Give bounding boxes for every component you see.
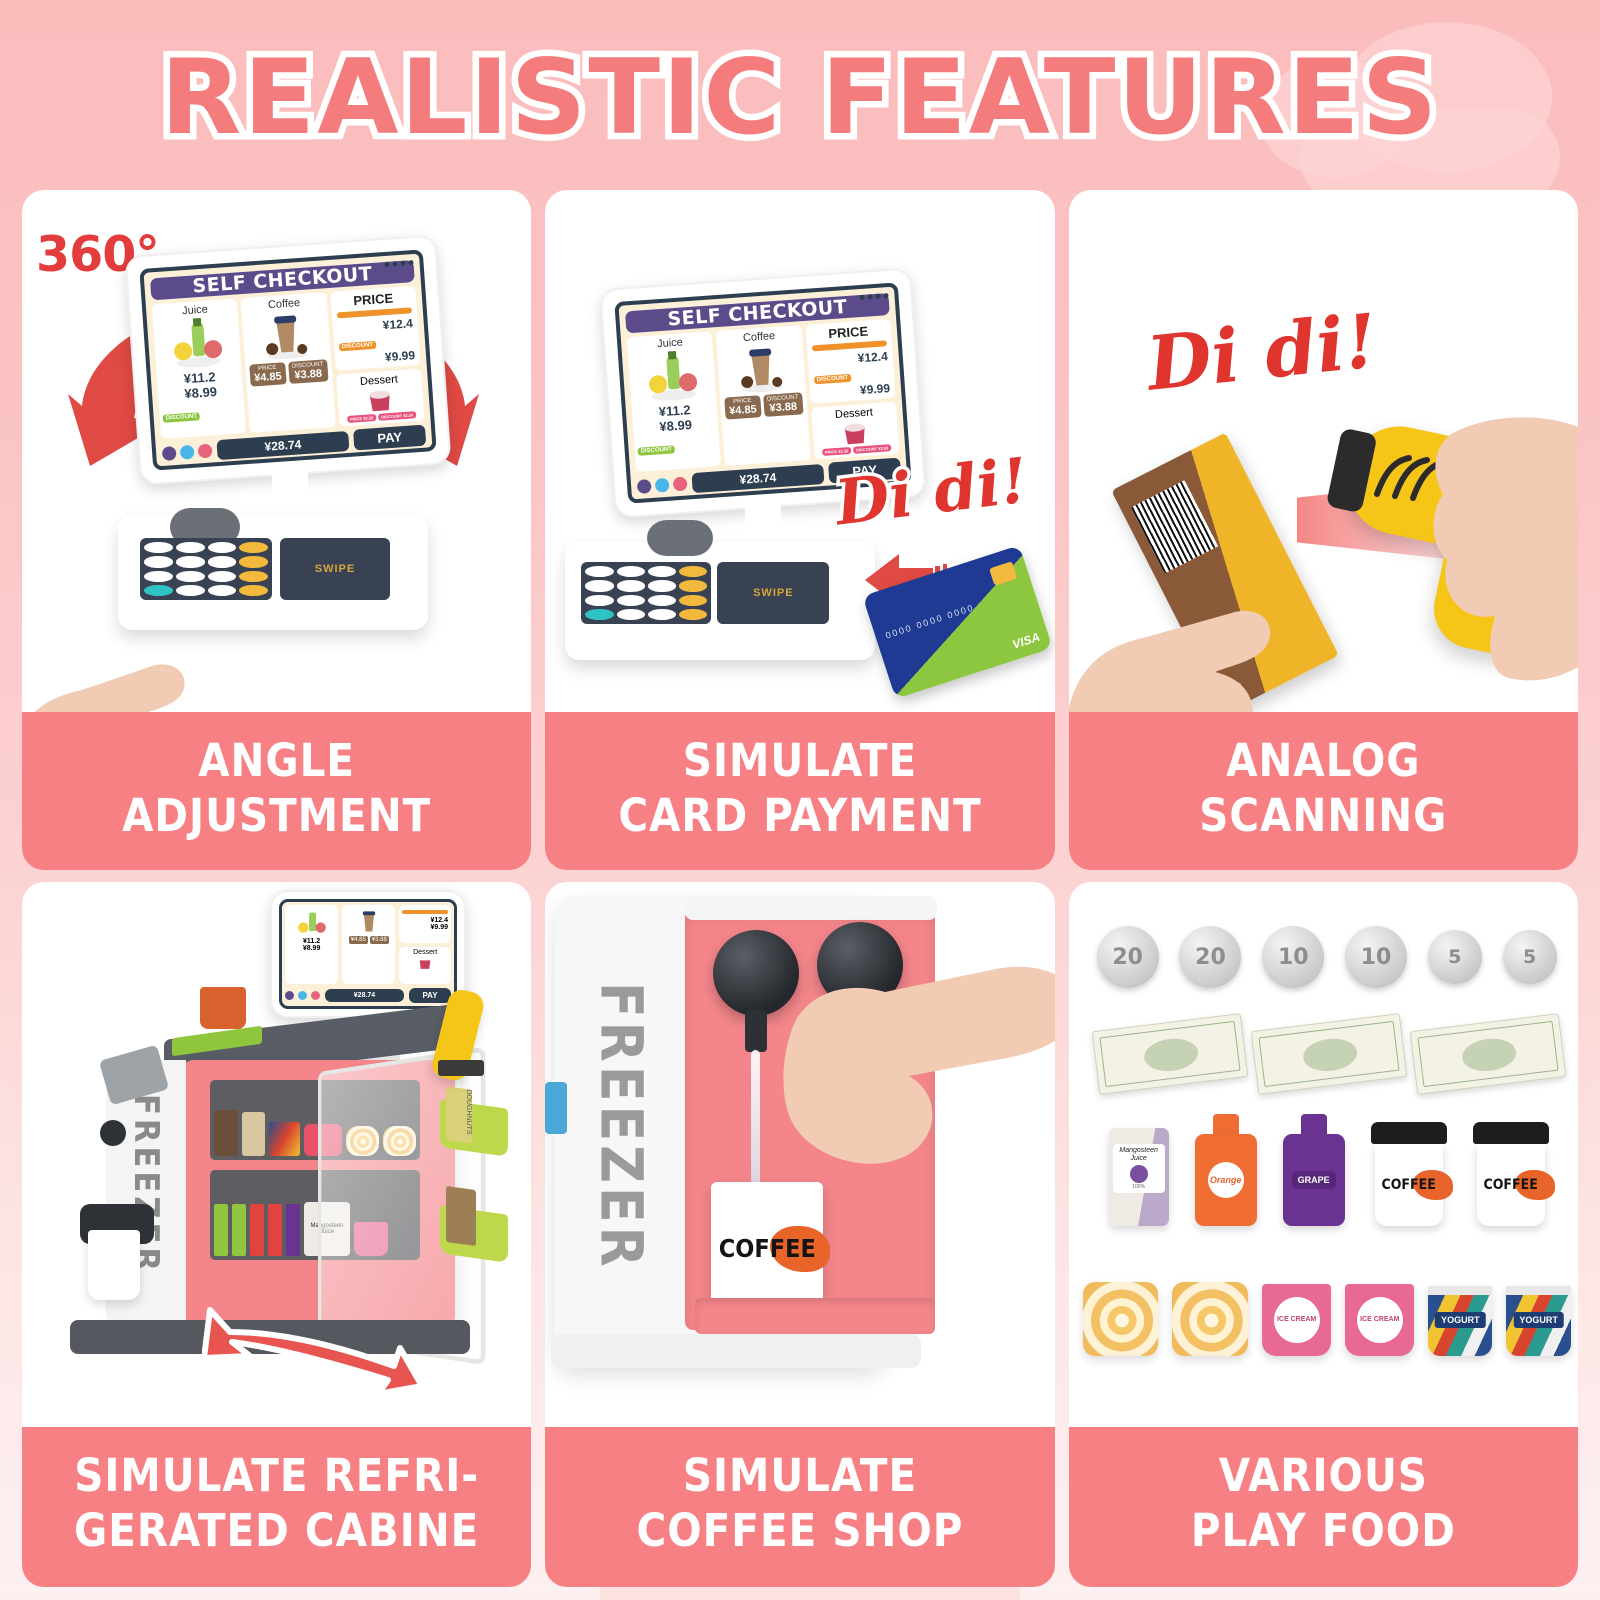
panel-stage-play-food: 20 20 10 10 5 5 Mangosteen Juice xyxy=(1069,882,1578,1427)
key-multiply[interactable] xyxy=(239,571,268,582)
mini-price-bar xyxy=(402,910,448,914)
key-5[interactable] xyxy=(617,580,645,591)
caption-line-2: COFFEE SHOP xyxy=(553,1504,1046,1559)
play-money-bill[interactable] xyxy=(1250,1013,1407,1095)
card-brand-label: VISA xyxy=(1011,630,1042,652)
panel-stage-card-payment: SELF CHECKOUT Juice ¥1 xyxy=(545,190,1054,712)
panel-various-play-food: 20 20 10 10 5 5 Mangosteen Juice xyxy=(1069,882,1578,1587)
cart-icon[interactable] xyxy=(180,444,195,459)
caption-line-2: CARD PAYMENT xyxy=(553,789,1046,844)
dessert-box[interactable]: Dessert PRICE ¥3.32 DISCOUNT ¥2.50 xyxy=(336,369,425,427)
door-swing-arrow-icon xyxy=(202,1270,442,1400)
shelf-bottle-4 xyxy=(268,1204,282,1256)
coffee-machine-label: FREEZER xyxy=(587,982,655,1271)
basket-label-doughnuts: DOUGHNUTS xyxy=(446,1086,472,1144)
pay-button[interactable]: PAY xyxy=(353,425,426,451)
desserts-row: ICE CREAM ICE CREAM YOGURT YOGURT xyxy=(1083,1282,1571,1356)
mini-discount-juice: ¥8.99 xyxy=(303,945,321,952)
panel-stage-angle: 360° SELF CHECKOUT Juice xyxy=(22,190,531,712)
bottle-label-orange: Orange xyxy=(1208,1162,1244,1198)
discount-tag-juice: DISCOUNT xyxy=(163,412,201,423)
key-4[interactable] xyxy=(585,580,613,591)
cup-label: COFFEE xyxy=(1483,1177,1537,1193)
key-6[interactable] xyxy=(208,556,237,567)
key-8[interactable] xyxy=(617,595,645,606)
ice-cream-label: ICE CREAM xyxy=(1357,1297,1403,1343)
caption-various-play-food: VARIOUS PLAY FOOD xyxy=(1069,1427,1578,1587)
mini-dessert-box: Dessert xyxy=(399,947,451,985)
cup-lid-icon xyxy=(1473,1122,1549,1144)
juice-product-icon-mini xyxy=(296,908,328,938)
price-value-coffee-2: ¥4.85 xyxy=(729,403,757,417)
caption-angle-adjustment: ANGLE ADJUSTMENT xyxy=(22,712,531,870)
dispenser-spout xyxy=(745,1010,767,1052)
panel-angle-adjustment: 360° SELF CHECKOUT Juice xyxy=(22,190,531,870)
coffee-product-icon-mini xyxy=(355,908,383,936)
discount-amount: ¥9.99 xyxy=(339,348,415,367)
price-amount-2: ¥12.4 xyxy=(812,349,888,368)
play-money-bill[interactable] xyxy=(1409,1013,1566,1095)
drinks-row: Mangosteen Juice 100% Orange GRAPE xyxy=(1089,1114,1569,1226)
cup-lid-icon xyxy=(1371,1122,1447,1144)
panel-analog-scanning: Di di! snacks xyxy=(1069,190,1578,870)
key-5[interactable] xyxy=(176,556,205,567)
caption-coffee-shop: SIMULATE COFFEE SHOP xyxy=(545,1427,1054,1587)
person-icon[interactable] xyxy=(162,446,177,461)
footer-icon-group xyxy=(162,443,213,460)
cup-label: COFFEE xyxy=(711,1234,823,1263)
cup-label: COFFEE xyxy=(1381,1177,1435,1193)
price-value-coffee: ¥4.85 xyxy=(254,370,282,384)
hand-holding-scanner xyxy=(1399,408,1578,708)
dessert-box-2[interactable]: Dessert PRICE ¥3.32 DISCOUNT ¥2.50 xyxy=(811,402,900,460)
item-discount-price-juice-2: ¥8.99 xyxy=(659,417,693,434)
price-amount: ¥12.4 xyxy=(337,316,413,335)
hand-holding-product xyxy=(1069,542,1319,712)
scanner-holster-strap xyxy=(438,1060,484,1076)
person-icon-2[interactable] xyxy=(637,479,652,494)
key-4[interactable] xyxy=(144,556,173,567)
card-chip-icon xyxy=(989,561,1017,586)
register-screen-shell: SELF CHECKOUT Juice ¥1 xyxy=(124,234,451,485)
discount-tag-price-2: DISCOUNT xyxy=(814,374,852,385)
can-sub-label: 100% xyxy=(1115,1184,1163,1190)
grape-juice-bottle[interactable]: GRAPE xyxy=(1283,1114,1345,1226)
coin-10[interactable]: 10 xyxy=(1262,926,1324,988)
key-ac-2[interactable] xyxy=(585,609,613,620)
mini-dessert-label: Dessert xyxy=(402,949,448,956)
mini-discount-coffee: ¥3.88 xyxy=(370,936,389,944)
screen-body-2: Juice ¥11.2 DISCOUNT ¥8.99 xyxy=(627,319,900,472)
pointing-hand-left xyxy=(22,580,242,712)
item-discount-price-juice: ¥8.99 xyxy=(184,384,218,401)
key-minus[interactable] xyxy=(679,580,707,591)
mini-summary: ¥12.4 ¥9.99 Dessert xyxy=(399,905,451,984)
coin-row: 20 20 10 10 5 5 xyxy=(1097,926,1557,988)
mini-icon-group xyxy=(285,991,320,1000)
mini-discount-amount: ¥9.99 xyxy=(402,924,448,931)
dessert-price-tag: PRICE ¥3.32 xyxy=(347,414,377,423)
key-3[interactable] xyxy=(208,542,237,553)
price-summary-column-2: PRICE ¥12.4 DISCOUNT ¥9.99 Dessert xyxy=(805,319,900,460)
swiss-roll-1[interactable] xyxy=(1083,1282,1159,1356)
person-icon-mini xyxy=(285,991,294,1000)
juice-product-icon xyxy=(168,314,225,370)
key-3[interactable] xyxy=(648,566,676,577)
coin-5[interactable]: 5 xyxy=(1503,930,1557,984)
machine-base xyxy=(551,1334,921,1368)
screen-body: Juice ¥11.2 DISCOUNT ¥8.99 xyxy=(152,286,425,439)
yogurt-lid-icon xyxy=(1506,1286,1570,1295)
caption-line-2: ADJUSTMENT xyxy=(30,789,523,844)
caption-analog-scanning: ANALOG SCANNING xyxy=(1069,712,1578,870)
mini-price-juice: ¥11.2 xyxy=(303,938,320,945)
key-2[interactable] xyxy=(176,542,205,553)
mini-footer: ¥28.74 PAY xyxy=(285,988,451,1003)
item-card-juice[interactable]: Juice ¥11.2 DISCOUNT ¥8.99 xyxy=(152,298,247,439)
price-heading-2: PRICE xyxy=(811,322,887,342)
key-equals[interactable] xyxy=(679,609,707,620)
key-7[interactable] xyxy=(585,595,613,606)
self-checkout-screen-mini[interactable]: ¥11.2 ¥8.99 ¥4.85 ¥3.88 xyxy=(279,899,457,1009)
yogurt-cup-1[interactable]: YOGURT xyxy=(1428,1286,1492,1356)
can-label: Mangosteen Juice xyxy=(1115,1147,1163,1162)
mini-body: ¥11.2 ¥8.99 ¥4.85 ¥3.88 xyxy=(285,905,451,984)
discount-amount-2: ¥9.99 xyxy=(815,381,891,400)
yogurt-cup-2[interactable]: YOGURT xyxy=(1506,1286,1570,1356)
register-screen-mini: ¥11.2 ¥8.99 ¥4.85 ¥3.88 xyxy=(270,890,466,1018)
mini-item-juice: ¥11.2 ¥8.99 xyxy=(285,905,338,984)
caption-simulate-card-payment: SIMULATE CARD PAYMENT xyxy=(545,712,1054,870)
caption-refrigerated-cabine: SIMULATE REFRI- GERATED CABINE xyxy=(22,1427,531,1587)
cart-icon-2[interactable] xyxy=(655,477,670,492)
caption-line-1: ANGLE xyxy=(30,734,523,789)
sound-effect-di-di-scan: Di di! xyxy=(1143,298,1381,408)
side-accessory-blue xyxy=(545,1082,567,1134)
item-card-juice-2[interactable]: Juice ¥11.2 DISCOUNT ¥8.99 xyxy=(627,331,722,472)
key-6[interactable] xyxy=(648,580,676,591)
caption-line-2: SCANNING xyxy=(1077,789,1570,844)
key-dot[interactable] xyxy=(648,609,676,620)
shelf-bottle-2 xyxy=(232,1204,246,1256)
mangosteen-juice-can[interactable]: Mangosteen Juice 100% xyxy=(1109,1128,1169,1226)
page-title: REALISTIC FEATURES xyxy=(161,38,1440,158)
key-plus[interactable] xyxy=(679,566,707,577)
side-knob xyxy=(100,1120,126,1146)
price-box[interactable]: PRICE ¥12.4 DISCOUNT ¥9.99 xyxy=(330,286,421,371)
price-box-2[interactable]: PRICE ¥12.4 DISCOUNT ¥9.99 xyxy=(805,319,896,404)
dessert-product-icon-mini xyxy=(417,956,433,970)
mangosteen-icon xyxy=(1130,1165,1148,1183)
shelf-bottle-1 xyxy=(214,1204,228,1256)
coffee-cup-side xyxy=(88,1230,140,1300)
caption-line-1: SIMULATE xyxy=(553,734,1046,789)
caption-line-1: SIMULATE REFRI- xyxy=(30,1449,523,1504)
bottle-label-grape: GRAPE xyxy=(1292,1171,1336,1189)
panel-stage-coffee: FREEZER COFFEE xyxy=(545,882,1054,1427)
panel-stage-scanning: Di di! snacks xyxy=(1069,190,1578,712)
panel-simulate-card-payment: SELF CHECKOUT Juice ¥1 xyxy=(545,190,1054,870)
discount-value-coffee: ¥3.88 xyxy=(292,368,324,382)
dispenser-top-rim xyxy=(685,896,937,920)
swipe-nfc-pad[interactable]: SWIPE xyxy=(280,538,390,600)
key-equals[interactable] xyxy=(239,585,268,596)
panel-simulate-refrigerated-cabine: ¥11.2 ¥8.99 ¥4.85 ¥3.88 xyxy=(22,882,531,1587)
caption-line-1: VARIOUS xyxy=(1077,1449,1570,1504)
play-money-bill[interactable] xyxy=(1091,1013,1248,1095)
item-card-coffee[interactable]: Coffee PRICE ¥4.8 xyxy=(241,292,336,433)
hand-pressing-knob xyxy=(781,944,1054,1184)
shelf-bottle-5 xyxy=(286,1204,300,1256)
coffee-product-icon-2 xyxy=(735,341,788,394)
shelf-bottle-3 xyxy=(250,1204,264,1256)
drip-tray xyxy=(695,1298,935,1334)
coin-20[interactable]: 20 xyxy=(1097,926,1159,988)
coffee-cup-food-2[interactable]: COFFEE xyxy=(1473,1122,1549,1226)
key-minus[interactable] xyxy=(239,556,268,567)
yogurt-lid-icon xyxy=(1428,1286,1492,1295)
handheld-scanner-dock-2 xyxy=(647,520,713,556)
ice-cream-tub-2[interactable]: ICE CREAM xyxy=(1345,1284,1414,1356)
coffee-cup-food-1[interactable]: COFFEE xyxy=(1371,1122,1447,1226)
caption-line-1: ANALOG xyxy=(1077,734,1570,789)
orange-juice-bottle[interactable]: Orange xyxy=(1195,1114,1257,1226)
price-summary-column: PRICE ¥12.4 DISCOUNT ¥9.99 Dessert xyxy=(330,286,425,427)
key-plus[interactable] xyxy=(239,542,268,553)
money-icon[interactable] xyxy=(198,443,213,458)
panel-stage-freezer: ¥11.2 ¥8.99 ¥4.85 ¥3.88 xyxy=(22,882,531,1427)
dessert-discount-tag-2: DISCOUNT ¥2.50 xyxy=(853,444,891,454)
key-1[interactable] xyxy=(585,566,613,577)
water-stream xyxy=(751,1050,760,1200)
shelf-item-jar-2 xyxy=(242,1112,266,1156)
bottle-cap-grape xyxy=(1301,1114,1327,1134)
discount-tag-juice-2: DISCOUNT xyxy=(638,445,676,456)
item-card-coffee-2[interactable]: Coffee PRICE ¥4.8 xyxy=(716,325,811,466)
discount-value-coffee-2: ¥3.88 xyxy=(768,401,800,415)
key-9[interactable] xyxy=(648,595,676,606)
caption-line-2: GERATED CABINE xyxy=(30,1504,523,1559)
dessert-product-icon xyxy=(364,386,396,414)
page-title-container: REALISTIC FEATURES xyxy=(0,38,1600,158)
caption-line-1: SIMULATE xyxy=(553,1449,1046,1504)
key-1[interactable] xyxy=(144,542,173,553)
panel-simulate-coffee-shop: FREEZER COFFEE SIMULATE COF xyxy=(545,882,1054,1587)
feature-panel-grid: 360° SELF CHECKOUT Juice xyxy=(22,190,1578,1587)
footer-icon-group-2 xyxy=(637,476,688,493)
juice-product-icon-2 xyxy=(644,347,701,403)
mini-price-box: ¥12.4 ¥9.99 xyxy=(399,905,451,943)
caption-line-2: PLAY FOOD xyxy=(1077,1504,1570,1559)
shelf-item-yogurt xyxy=(269,1122,300,1156)
coin-5[interactable]: 5 xyxy=(1428,930,1482,984)
price-heading: PRICE xyxy=(335,289,411,309)
money-icon-mini xyxy=(311,991,320,1000)
key-0[interactable] xyxy=(617,609,645,620)
card-number: 0000 0000 0000 xyxy=(885,602,977,640)
cart-icon-mini xyxy=(298,991,307,1000)
numeric-keypad-2[interactable] xyxy=(581,562,711,624)
coffee-cup-under-spout[interactable]: COFFEE xyxy=(711,1182,823,1314)
mini-pay-button: PAY xyxy=(409,988,451,1003)
yogurt-label: YOGURT xyxy=(1435,1312,1486,1328)
money-icon-2[interactable] xyxy=(673,476,688,491)
coffee-cup-on-counter xyxy=(200,987,246,1029)
mini-total: ¥28.74 xyxy=(325,989,404,1002)
total-amount-2: ¥28.74 xyxy=(692,463,825,492)
mini-item-coffee: ¥4.85 ¥3.88 xyxy=(342,905,395,984)
dessert-price-tag-2: PRICE ¥3.32 xyxy=(822,447,852,456)
shelf-item-jar xyxy=(214,1110,238,1156)
self-checkout-screen[interactable]: SELF CHECKOUT Juice ¥1 xyxy=(139,249,436,470)
total-amount: ¥28.74 xyxy=(216,430,349,459)
mini-price-coffee: ¥4.85 xyxy=(349,936,368,944)
key-multiply[interactable] xyxy=(679,595,707,606)
mini-price-amount: ¥12.4 xyxy=(402,917,448,924)
basket-item-snackbox xyxy=(446,1186,476,1246)
coffee-product-icon xyxy=(260,308,313,361)
bill-row xyxy=(1095,1022,1563,1086)
key-2[interactable] xyxy=(617,566,645,577)
coin-10[interactable]: 10 xyxy=(1345,926,1407,988)
discount-tag-price: DISCOUNT xyxy=(339,341,377,352)
swiss-roll-2[interactable] xyxy=(1172,1282,1248,1356)
yogurt-label: YOGURT xyxy=(1513,1312,1564,1328)
cup-logo: COFFEE xyxy=(711,1234,823,1263)
dessert-discount-tag: DISCOUNT ¥2.50 xyxy=(378,411,416,421)
bottle-cap-orange xyxy=(1213,1114,1239,1134)
ice-cream-label: ICE CREAM xyxy=(1274,1297,1320,1343)
coin-20[interactable]: 20 xyxy=(1179,926,1241,988)
dessert-product-icon-2 xyxy=(840,419,872,447)
ice-cream-tub-1[interactable]: ICE CREAM xyxy=(1262,1284,1331,1356)
